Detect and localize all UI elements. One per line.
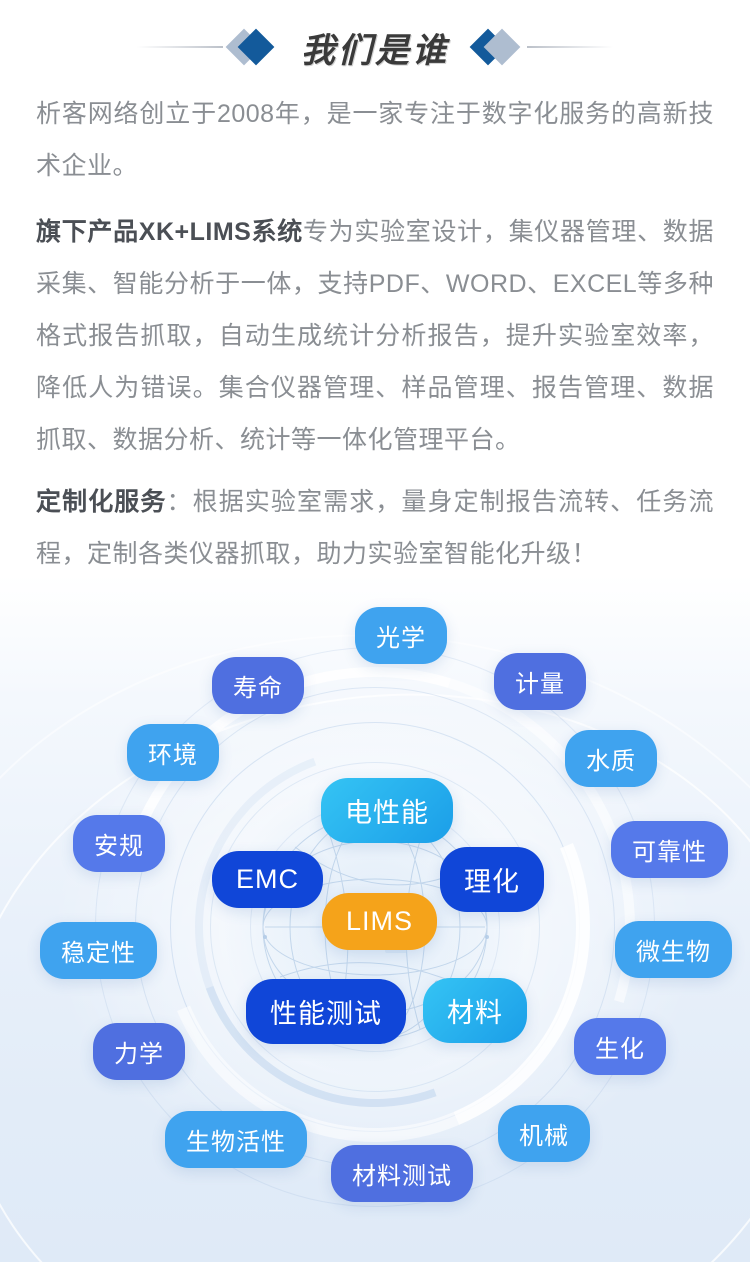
tag-5[interactable]: 电性能 [321, 778, 453, 843]
tag-6[interactable]: 安规 [73, 815, 165, 872]
header-rule-left [137, 46, 223, 48]
paragraph-lead-bold: 定制化服务 [36, 488, 167, 516]
tag-3[interactable]: 环境 [127, 724, 219, 781]
paragraph-text: 析客网络创立于2008年，是一家专注于数字化服务的高新技术企业。 [36, 100, 714, 180]
tag-14[interactable]: 材料 [423, 978, 527, 1043]
tag-12[interactable]: 微生物 [615, 921, 732, 978]
capability-tag-cloud: 光学寿命计量环境水质电性能安规可靠性EMC理化LIMS稳定性微生物性能测试材料生… [0, 575, 750, 1262]
paragraph-text: 专为实验室设计，集仪器管理、数据采集、智能分析于一体，支持PDF、WORD、EX… [36, 218, 714, 454]
tag-2[interactable]: 计量 [494, 653, 586, 710]
header-rule-right [527, 46, 613, 48]
tag-7[interactable]: 可靠性 [611, 821, 728, 878]
tag-19[interactable]: 材料测试 [331, 1145, 473, 1202]
page-title: 我们是谁 [285, 23, 465, 72]
paragraph-intro: 析客网络创立于2008年，是一家专注于数字化服务的高新技术企业。 [36, 88, 714, 192]
paragraph-custom-service: 定制化服务：根据实验室需求，量身定制报告流转、任务流程，定制各类仪器抓取，助力实… [36, 476, 714, 580]
tag-8[interactable]: EMC [212, 851, 323, 908]
paragraph-product: 旗下产品XK+LIMS系统专为实验室设计，集仪器管理、数据采集、智能分析于一体，… [36, 206, 714, 466]
paragraph-lead-bold: 旗下产品XK+LIMS系统 [36, 218, 303, 246]
tag-16[interactable]: 力学 [93, 1023, 185, 1080]
about-copy: 析客网络创立于2008年，是一家专注于数字化服务的高新技术企业。 旗下产品XK+… [0, 88, 750, 580]
tag-11[interactable]: 稳定性 [40, 922, 157, 979]
section-header: 我们是谁 [0, 0, 750, 88]
tag-9[interactable]: 理化 [440, 847, 544, 912]
tag-18[interactable]: 生物活性 [165, 1111, 307, 1168]
tag-10[interactable]: LIMS [322, 893, 437, 950]
tag-13[interactable]: 性能测试 [246, 979, 406, 1044]
tag-4[interactable]: 水质 [565, 730, 657, 787]
diamond-pair-icon-left [223, 27, 285, 67]
tag-1[interactable]: 寿命 [212, 657, 304, 714]
tag-0[interactable]: 光学 [355, 607, 447, 664]
tag-15[interactable]: 生化 [574, 1018, 666, 1075]
tag-17[interactable]: 机械 [498, 1105, 590, 1162]
diamond-pair-icon-right [465, 27, 527, 67]
